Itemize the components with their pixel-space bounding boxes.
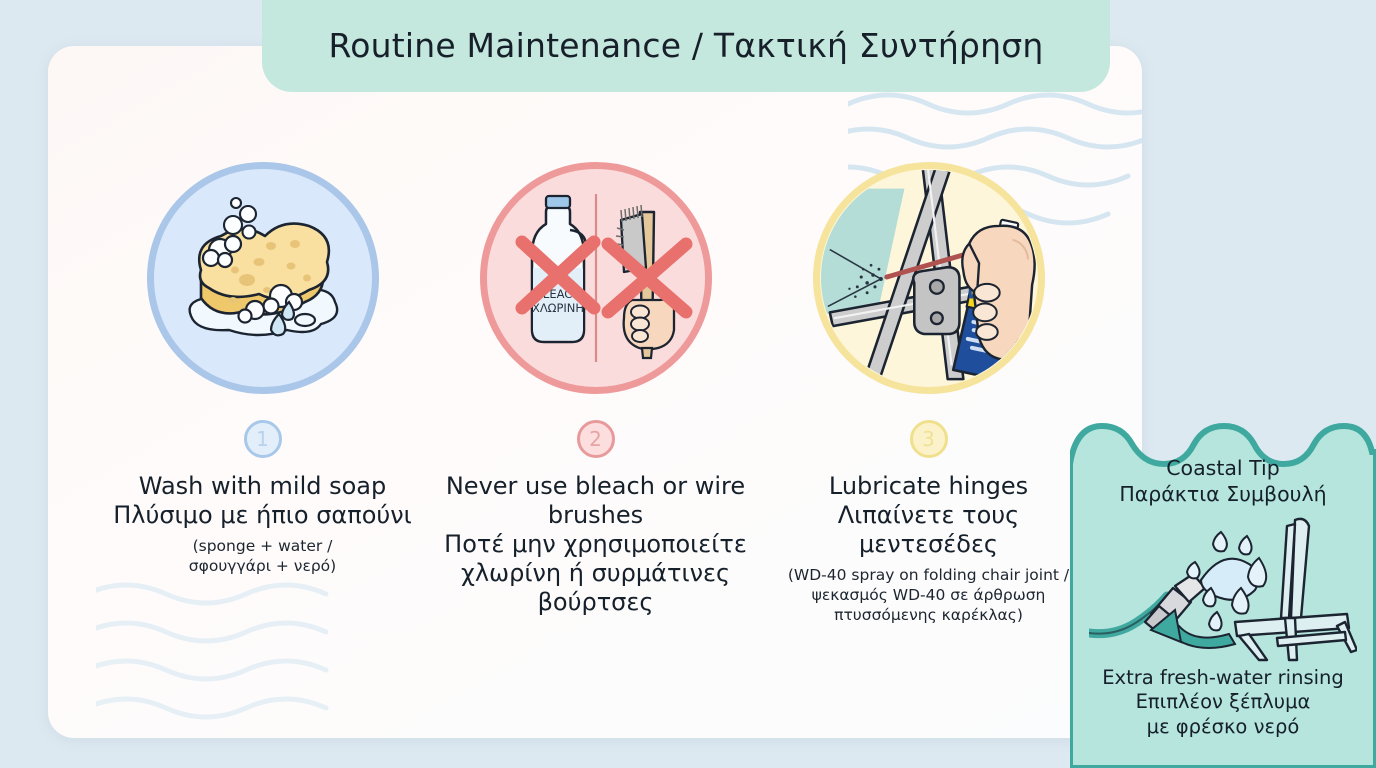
coastal-tip-heading-en: Coastal Tip: [1119, 456, 1326, 482]
coastal-tip-heading: Coastal Tip Παράκτια Συμβουλή: [1119, 456, 1326, 508]
maintenance-card: 1 Wash with mild soap Πλύσιμο με ήπιο σα…: [48, 46, 1142, 738]
coastal-tip-footer: Extra fresh-water rinsing Επιπλέον ξέπλυ…: [1102, 666, 1344, 740]
step-1-number-badge: 1: [244, 420, 282, 458]
step-1-title-el: Πλύσιμο με ήπιο σαπούνι: [113, 501, 412, 530]
bleach-label-el: ΧΛΩΡΙΝΗ: [531, 301, 583, 315]
step-3-title-en: Lubricate hinges: [774, 472, 1084, 501]
coastal-tip-box: Coastal Tip Παράκτια Συμβουλή: [1070, 418, 1376, 768]
step-3-illustration-circle: WD-40: [813, 162, 1045, 394]
step-3-number-badge: 3: [910, 420, 948, 458]
step-1-subtitle-el: σφουγγάρι + νερό): [189, 557, 336, 577]
step-2-title: Never use bleach or wire brushes Ποτέ μη…: [441, 472, 751, 617]
title-banner: Routine Maintenance / Τακτική Συντήρηση: [262, 0, 1110, 92]
coastal-tip-footer-el1: Επιπλέον ξέπλυμα: [1102, 690, 1344, 715]
step-1-subtitle: (sponge + water / σφουγγάρι + νερό): [189, 537, 336, 577]
sponge-with-bubbles-and-water-icon: [163, 178, 363, 378]
step-2-title-en: Never use bleach or wire brushes: [441, 472, 751, 530]
step-1: 1 Wash with mild soap Πλύσιμο με ήπιο σα…: [96, 162, 429, 626]
step-3-subtitle-en: (WD-40 spray on folding chair joint /: [769, 566, 1089, 586]
step-3: WD-40: [762, 162, 1095, 626]
step-2: BLEACH ΧΛΩΡΙΝΗ: [429, 162, 762, 626]
page-title: Routine Maintenance / Τακτική Συντήρηση: [329, 26, 1044, 65]
step-1-title: Wash with mild soap Πλύσιμο με ήπιο σαπο…: [113, 472, 412, 530]
step-3-title-el: Λιπαίνετε τους μεντεσέδες: [774, 501, 1084, 559]
step-1-subtitle-en: (sponge + water /: [189, 537, 336, 557]
step-3-subtitle-el: ψεκασμός WD-40 σε άρθρωση πτυσσόμενης κα…: [769, 586, 1089, 626]
step-1-title-en: Wash with mild soap: [113, 472, 412, 501]
hand-spraying-wd40-on-chair-hinge-icon: WD-40: [820, 167, 1038, 389]
step-2-number-badge: 2: [577, 420, 615, 458]
hose-rinsing-folding-chair-icon: [1089, 514, 1357, 662]
bleach-bottle-and-wire-brush-crossed-out-icon: BLEACH ΧΛΩΡΙΝΗ: [490, 172, 702, 384]
step-1-illustration-circle: [147, 162, 379, 394]
steps-row: 1 Wash with mild soap Πλύσιμο με ήπιο σα…: [96, 162, 1096, 626]
step-3-title: Lubricate hinges Λιπαίνετε τους μεντεσέδ…: [774, 472, 1084, 559]
coastal-tip-footer-el2: με φρέσκο νερό: [1102, 715, 1344, 740]
coastal-tip-footer-en: Extra fresh-water rinsing: [1102, 666, 1344, 691]
step-2-illustration-circle: BLEACH ΧΛΩΡΙΝΗ: [480, 162, 712, 394]
coastal-tip-heading-el: Παράκτια Συμβουλή: [1119, 482, 1326, 508]
step-3-subtitle: (WD-40 spray on folding chair joint / ψε…: [769, 566, 1089, 625]
step-2-title-el: Ποτέ μην χρησιμοποιείτε χλωρίνη ή συρμάτ…: [441, 530, 751, 617]
